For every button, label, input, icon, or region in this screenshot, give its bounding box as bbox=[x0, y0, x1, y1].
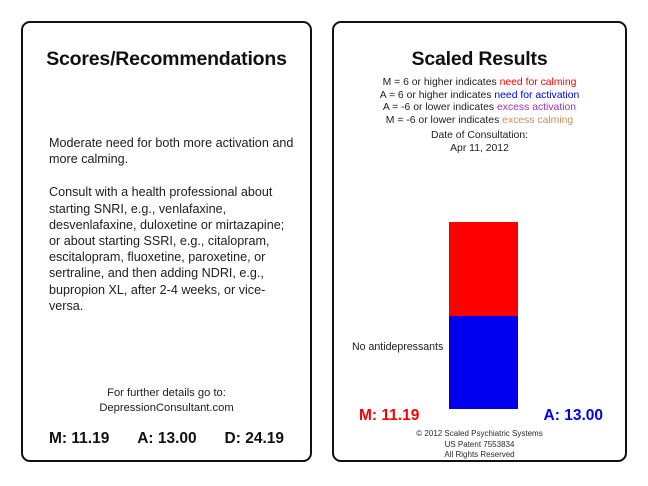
legend-prefix-need-for-calming: M = 6 or higher indicates bbox=[383, 77, 500, 88]
chart-value-m: M: 11.19 bbox=[359, 407, 419, 425]
bar-segment-need-for-calming bbox=[449, 222, 518, 316]
scores-summary-row: M: 11.19 A: 13.00 D: 24.19 bbox=[39, 430, 294, 448]
score-a: A: 13.00 bbox=[137, 430, 196, 448]
bar-segment-need-for-activation bbox=[449, 316, 518, 410]
copyright-block: © 2012 Scaled Psychiatric Systems US Pat… bbox=[334, 429, 625, 461]
legend-prefix-excess-calming: M = -6 or lower indicates bbox=[386, 115, 502, 126]
consultation-date-label: Date of Consultation: bbox=[334, 130, 625, 143]
score-m: M: 11.19 bbox=[49, 430, 109, 448]
recommendation-detail-paragraph: Consult with a health professional about… bbox=[49, 184, 294, 314]
chart-value-a: A: 13.00 bbox=[544, 407, 603, 425]
legend-prefix-excess-activation: A = -6 or lower indicates bbox=[383, 102, 497, 113]
scores-recommendations-panel: Scores/Recommendations Moderate need for… bbox=[21, 21, 312, 462]
legend-item-excess-calming: M = -6 or lower indicates excess calming bbox=[334, 115, 625, 128]
score-d: D: 24.19 bbox=[225, 430, 284, 448]
legend-item-need-for-calming: M = 6 or higher indicates need for calmi… bbox=[334, 77, 625, 90]
copyright-line-rights: All Rights Reserved bbox=[334, 450, 625, 461]
page-title-scores: Scores/Recommendations bbox=[23, 48, 310, 71]
page-title-scaled-results: Scaled Results bbox=[334, 48, 625, 71]
legend-highlight-excess-calming: excess calming bbox=[502, 115, 573, 126]
legend-prefix-need-for-activation: A = 6 or higher indicates bbox=[380, 90, 495, 101]
legend-item-need-for-activation: A = 6 or higher indicates need for activ… bbox=[334, 90, 625, 103]
recommendations-body: Moderate need for both more activation a… bbox=[49, 135, 294, 331]
legend-highlight-excess-activation: excess activation bbox=[497, 102, 576, 113]
chart-category-label: No antidepressants bbox=[352, 341, 443, 353]
further-details-label: For further details go to: bbox=[23, 386, 310, 401]
copyright-line-company: © 2012 Scaled Psychiatric Systems bbox=[334, 429, 625, 440]
further-details-website: DepressionConsultant.com bbox=[23, 401, 310, 416]
scaled-results-panel: Scaled Results M = 6 or higher indicates… bbox=[332, 21, 627, 462]
consultation-date-block: Date of Consultation: Apr 11, 2012 bbox=[334, 130, 625, 155]
legend-highlight-need-for-activation: need for activation bbox=[494, 90, 579, 101]
recommendation-summary-paragraph: Moderate need for both more activation a… bbox=[49, 135, 294, 167]
consultation-date-value: Apr 11, 2012 bbox=[334, 143, 625, 156]
chart-bar-no-antidepressants bbox=[449, 222, 518, 409]
copyright-line-patent: US Patent 7553834 bbox=[334, 440, 625, 451]
legend-item-excess-activation: A = -6 or lower indicates excess activat… bbox=[334, 102, 625, 115]
chart-value-labels: M: 11.19 A: 13.00 bbox=[334, 407, 625, 429]
legend-highlight-need-for-calming: need for calming bbox=[500, 77, 577, 88]
further-details-note: For further details go to: DepressionCon… bbox=[23, 386, 310, 415]
legend: M = 6 or higher indicates need for calmi… bbox=[334, 77, 625, 127]
